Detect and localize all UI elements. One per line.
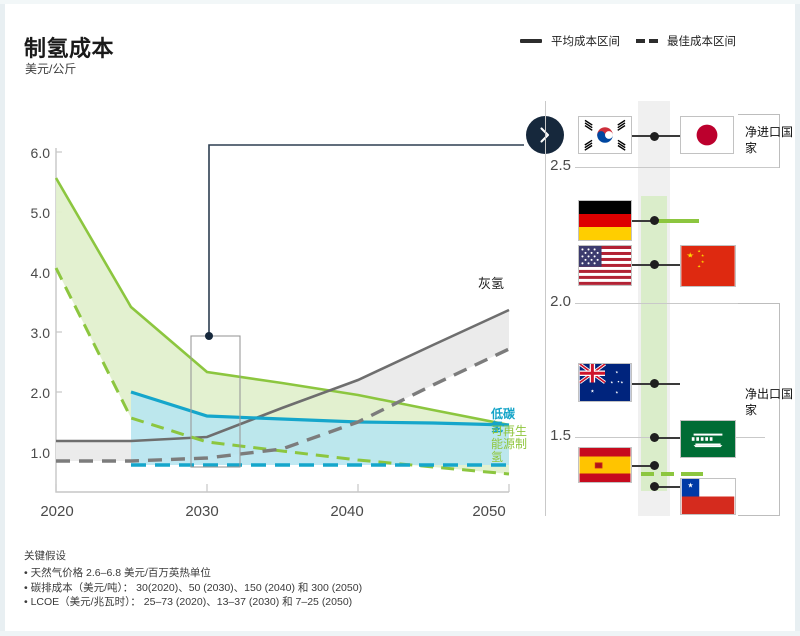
country-cost-panel: 2.5 2.0 1.5 净进口国家 净出口国家: [533, 96, 788, 516]
series-label-renewable: 可再生能源制氢: [491, 425, 527, 464]
germany-flag[interactable]: [578, 200, 632, 241]
page-title: 制氢成本: [24, 31, 114, 63]
chart-legend: 平均成本区间 最佳成本区间: [520, 33, 736, 49]
page-subtitle: 美元/公斤: [25, 60, 76, 77]
data-point-saudi[interactable]: [650, 433, 659, 442]
y-tick-2: 2.0: [16, 385, 50, 401]
frame-edge-top: [0, 0, 800, 4]
footnote-line-1: • 天然气价格 2.6–6.8 美元/百万英热单位: [24, 566, 544, 581]
frame-edge-left: [0, 0, 5, 636]
x-tick-2030: 2030: [172, 503, 232, 520]
y-tick-3: 3.0: [16, 325, 50, 341]
footnotes-block: 关键假设 • 天然气价格 2.6–6.8 美元/百万英热单位 • 碳排成本（美元…: [24, 548, 544, 610]
callout-connector-line: [209, 145, 524, 336]
legend-item-best: 最佳成本区间: [636, 33, 736, 49]
australia-flag[interactable]: [578, 363, 632, 402]
solid-line-icon: [520, 39, 542, 43]
y-tick-4: 4.0: [16, 265, 50, 281]
footnote-line-2: • 碳排成本（美元/吨）： 30(2020)、50 (2030)、150 (20…: [24, 581, 544, 596]
y-tick-1: 1.0: [16, 445, 50, 461]
series-label-grey-hydrogen: 灰氢: [478, 277, 504, 290]
spain-flag[interactable]: [578, 447, 632, 483]
data-point-usa-china[interactable]: [650, 260, 659, 269]
frame-edge-right: [795, 0, 800, 636]
data-point-spain[interactable]: [650, 461, 659, 470]
legend-item-average: 平均成本区间: [520, 33, 620, 49]
y-tick-5: 5.0: [16, 205, 50, 221]
panel-axis-label-1-5: 1.5: [539, 427, 571, 444]
data-point-australia[interactable]: [650, 379, 659, 388]
group-label-net-importer: 净进口国家: [745, 124, 795, 156]
chart-plot-svg: [12, 140, 524, 530]
panel-axis-label-2-0: 2.0: [539, 293, 571, 310]
china-flag[interactable]: [680, 245, 736, 287]
panel-axis-label-2-5: 2.5: [539, 157, 571, 174]
data-point-korea-japan[interactable]: [650, 132, 659, 141]
frame-edge-bottom: [0, 631, 800, 636]
korea-flag[interactable]: [578, 116, 632, 154]
x-tick-2040: 2040: [317, 503, 377, 520]
screenshot-root: 制氢成本 美元/公斤 平均成本区间 最佳成本区间 6.0 5.0 4.0 3.0…: [0, 0, 800, 636]
data-point-chile[interactable]: [650, 482, 659, 491]
usa-flag[interactable]: [578, 245, 632, 286]
footnote-title: 关键假设: [24, 548, 544, 563]
group-label-net-exporter: 净出口国家: [745, 386, 795, 418]
panel-green-band: [641, 196, 667, 491]
x-tick-2020: 2020: [27, 503, 87, 520]
connector-germany-right: [654, 219, 699, 223]
dashed-line-icon: [636, 39, 658, 43]
legend-label-average: 平均成本区间: [551, 33, 620, 49]
x-tick-marks: [56, 484, 509, 492]
footnote-line-3: • LCOE（美元/兆瓦时）： 25–73 (2020)、13–37 (2030…: [24, 595, 544, 610]
main-chart: 6.0 5.0 4.0 3.0 2.0 1.0 2020 2030 2040 2…: [12, 140, 524, 530]
y-tick-6: 6.0: [16, 145, 50, 161]
connector-spain-green-dash: [641, 472, 703, 476]
callout-anchor-dot: [205, 332, 213, 340]
japan-flag[interactable]: [680, 116, 734, 154]
data-point-germany[interactable]: [650, 216, 659, 225]
chile-flag[interactable]: [680, 478, 736, 515]
legend-label-best: 最佳成本区间: [667, 33, 736, 49]
saudi-arabia-flag[interactable]: [680, 420, 736, 458]
x-tick-2050: 2050: [459, 503, 519, 520]
